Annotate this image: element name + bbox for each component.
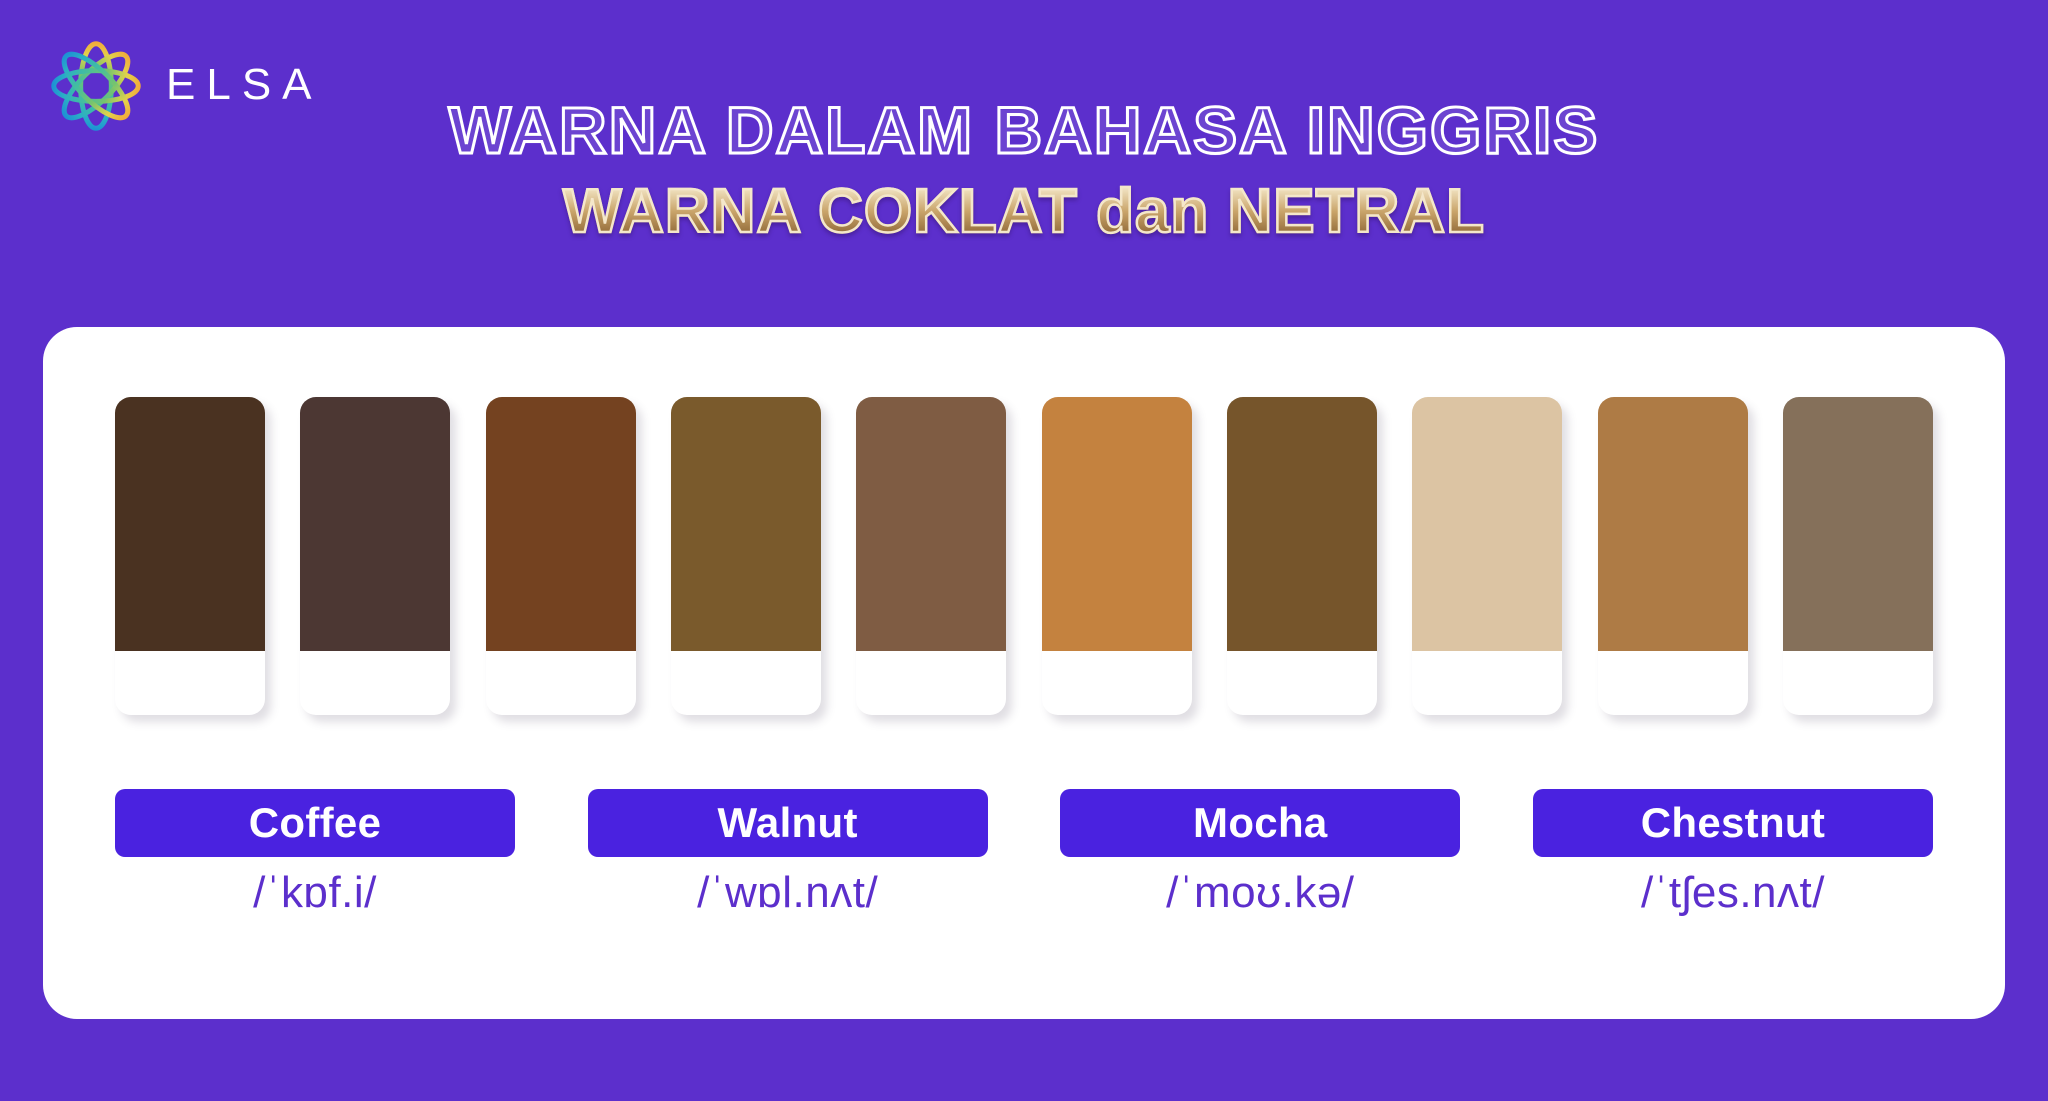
- color-ipa-chestnut: /ˈtʃes.nʌt/: [1533, 869, 1933, 917]
- title-block: WARNA DALAM BAHASA INGGRIS WARNA COKLAT …: [0, 96, 2048, 244]
- swatch-card[interactable]: [671, 397, 821, 715]
- palette-panel: Coffee /ˈkɒf.i/ Walnut /ˈwɒl.nʌt/ Mocha …: [43, 327, 2005, 1019]
- swatch-card[interactable]: [1042, 397, 1192, 715]
- swatch-color-6: [1042, 397, 1192, 651]
- color-ipa-walnut: /ˈwɒl.nʌt/: [588, 869, 988, 917]
- swatch-card[interactable]: [1412, 397, 1562, 715]
- swatch-color-5: [856, 397, 1006, 651]
- swatch-color-8: [1412, 397, 1562, 651]
- page-subtitle: WARNA COKLAT dan NETRAL: [0, 179, 2048, 244]
- color-name-cell: Mocha /ˈmoʊ.kə/: [1060, 789, 1460, 917]
- swatch-color-7: [1227, 397, 1377, 651]
- header-band: ELSA WARNA DALAM BAHASA INGGRIS WARNA CO…: [0, 0, 2048, 327]
- swatch-color-9: [1598, 397, 1748, 651]
- swatch-color-4: [671, 397, 821, 651]
- color-ipa-coffee: /ˈkɒf.i/: [115, 869, 515, 917]
- color-ipa-mocha: /ˈmoʊ.kə/: [1060, 869, 1460, 917]
- color-name-cell: Walnut /ˈwɒl.nʌt/: [588, 789, 988, 917]
- swatch-card[interactable]: [486, 397, 636, 715]
- color-name-pill-mocha[interactable]: Mocha: [1060, 789, 1460, 857]
- page-title: WARNA DALAM BAHASA INGGRIS: [0, 96, 2048, 165]
- color-name-cell: Coffee /ˈkɒf.i/: [115, 789, 515, 917]
- swatch-color-1: [115, 397, 265, 651]
- swatch-color-10: [1783, 397, 1933, 651]
- swatch-card[interactable]: [1783, 397, 1933, 715]
- swatch-color-3: [486, 397, 636, 651]
- swatch-strip: [115, 397, 1933, 727]
- color-name-row: Coffee /ˈkɒf.i/ Walnut /ˈwɒl.nʌt/ Mocha …: [115, 789, 1933, 917]
- swatch-card[interactable]: [1598, 397, 1748, 715]
- swatch-card[interactable]: [115, 397, 265, 715]
- swatch-card[interactable]: [1227, 397, 1377, 715]
- color-name-pill-chestnut[interactable]: Chestnut: [1533, 789, 1933, 857]
- color-name-pill-coffee[interactable]: Coffee: [115, 789, 515, 857]
- color-name-pill-walnut[interactable]: Walnut: [588, 789, 988, 857]
- color-name-cell: Chestnut /ˈtʃes.nʌt/: [1533, 789, 1933, 917]
- swatch-color-2: [300, 397, 450, 651]
- swatch-card[interactable]: [856, 397, 1006, 715]
- swatch-card[interactable]: [300, 397, 450, 715]
